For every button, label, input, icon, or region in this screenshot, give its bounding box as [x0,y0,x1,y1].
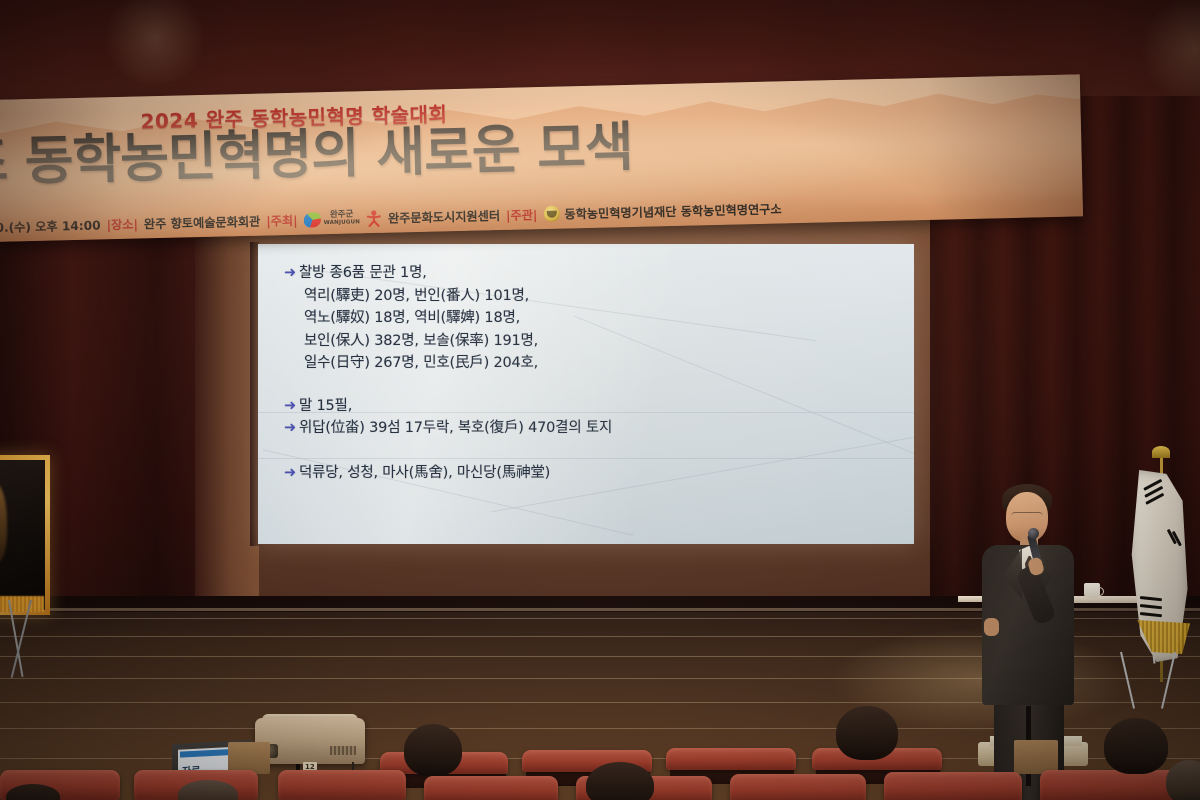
microphone-icon [1028,528,1039,539]
audience-seat [730,774,866,800]
banner-host-label: |주최| [265,211,299,230]
banner-organizer: 동학농민혁명기념재단 동학농민혁명연구소 [564,199,782,222]
slide-content: ➜ 찰방 종6품 문관 1명, 역리(驛吏) 20명, 번인(番人) 101명,… [258,244,914,544]
banner-date: 30.(수) 오후 14:00 [0,215,101,236]
wanju-logo-text: 완주군 WANJUGUN [323,210,360,227]
slide-line-3: 역노(驛奴) 18명, 역비(驛婢) 18명, [284,307,914,330]
slide-line-text: 일수(日守) 267명, 민호(民戶) 204호, [304,352,538,375]
slide-line-text: 덕류당, 성청, 마사(馬舍), 마신당(馬神堂) [299,462,550,485]
slide-line-text: 말 15필, [299,395,352,418]
banner-organizer-label: |주관| [505,205,539,224]
slide-line-text: 위답(位畓) 39섬 17두락, 복호(復戶) 470결의 토지 [299,417,612,440]
foundation-logo-icon [543,206,559,222]
bullet-arrow-icon: ➜ [284,417,296,440]
speaker-glasses-icon [1011,512,1043,521]
slide-line-4: 보인(保人) 382명, 보솔(保率) 191명, [284,330,914,353]
slide-line-text: 보인(保人) 382명, 보솔(保率) 191명, [304,330,538,353]
audience-seat [278,770,406,800]
audience-head [1104,718,1168,774]
culture-city-logo-icon [365,209,383,226]
audience-seat [1040,770,1180,800]
slide-line-2: 역리(驛吏) 20명, 번인(番人) 101명, [284,285,914,308]
slide-line-6: ➜ 말 15필, [284,395,914,418]
ceremonial-flag-fringe [0,596,44,612]
paper-cup [1084,583,1100,598]
wanju-gun-logo: 완주군 WANJUGUN [303,210,360,227]
slide-line-8: ➜ 덕류당, 성청, 마사(馬舍), 마신당(馬神堂) [284,462,914,485]
slide-line-1: ➜ 찰방 종6품 문관 1명, [284,262,914,285]
banner-venue-label: |장소| [105,215,139,234]
bullet-arrow-icon: ➜ [284,262,296,285]
slide-line-text: 역리(驛吏) 20명, 번인(番人) 101명, [304,285,529,308]
wanju-emblem-icon [303,212,320,227]
audience-head [404,724,462,776]
audience-seat [424,776,558,800]
projector-vent [330,746,356,755]
conference-banner: 2024 완주 동학농민혁명 학술대회 조 동학농민혁명의 새로운 모색 30.… [0,74,1083,242]
projection-screen: ➜ 찰방 종6품 문관 1명, 역리(驛吏) 20명, 번인(番人) 101명,… [258,244,914,544]
audience-seat [884,772,1022,800]
seat-back-wood [1014,740,1058,774]
slide-line-text: 역노(驛奴) 18명, 역비(驛婢) 18명, [304,307,520,330]
banner-host-org: 완주문화도시지원센터 [388,206,501,227]
slide-line-7: ➜ 위답(位畓) 39섬 17두락, 복호(復戶) 470결의 토지 [284,417,914,440]
ceremonial-flag [0,455,50,615]
presentation-photo: ➜ 찰방 종6품 문관 1명, 역리(驛吏) 20명, 번인(番人) 101명,… [0,0,1200,800]
slide-line-text: 찰방 종6품 문관 1명, [299,262,427,285]
ceremonial-flag-emblem [0,484,7,562]
korean-flag-finial [1152,446,1170,458]
banner-venue: 완주 향토예술문화회관 [144,212,261,233]
slide-line-5: 일수(日守) 267명, 민호(民戶) 204호, [284,352,914,375]
bullet-arrow-icon: ➜ [284,395,296,418]
audience-head [586,762,654,800]
wanju-logo-en: WANJUGUN [324,218,361,227]
bullet-arrow-icon: ➜ [284,462,296,485]
audience-head [836,706,898,760]
speaker-hand-left [984,618,999,636]
audience-seat [666,748,796,770]
